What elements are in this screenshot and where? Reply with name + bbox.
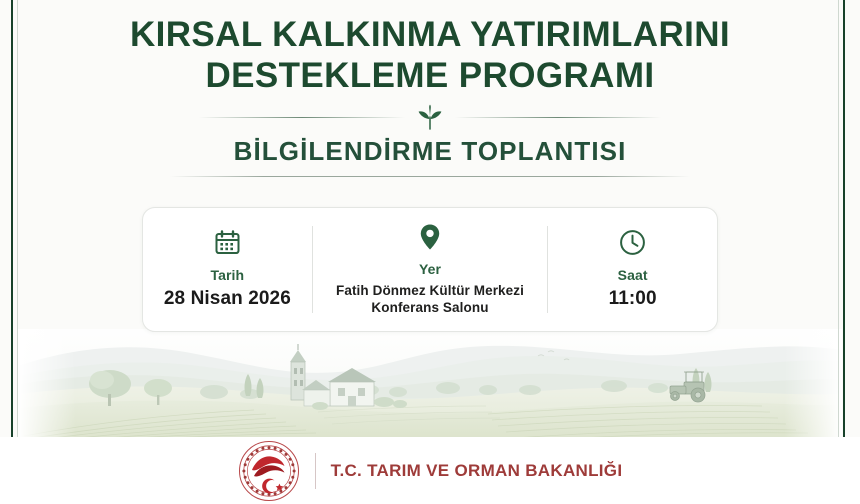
date-value: 28 Nisan 2026 [164, 288, 291, 310]
date-label: Tarih [211, 267, 245, 283]
venue-value: Fatih Dönmez Kültür Merkezi Konferans Sa… [336, 282, 524, 316]
divider-rule-right [455, 117, 661, 118]
detail-column-venue: Yer Fatih Dönmez Kültür Merkezi Konferan… [313, 208, 548, 331]
time-label: Saat [618, 267, 648, 283]
clock-icon [619, 228, 646, 258]
ministry-name: T.C. TARIM VE ORMAN BAKANLIĞI [331, 461, 623, 481]
event-details-card: Tarih 28 Nisan 2026 Yer Fatih Dönmez Kül… [142, 207, 718, 332]
poster-canvas: KIRSAL KALKINMA YATIRIMLARINI DESTEKLEME… [0, 0, 860, 504]
calendar-icon [214, 228, 241, 258]
map-pin-icon [419, 222, 441, 252]
sprout-icon [415, 104, 445, 130]
page-subtitle: BİLGİLENDİRME TOPLANTISI [0, 136, 860, 167]
page-title: KIRSAL KALKINMA YATIRIMLARINI DESTEKLEME… [0, 14, 860, 96]
detail-column-time: Saat 11:00 [548, 208, 717, 331]
title-line-1: KIRSAL KALKINMA YATIRIMLARINI [0, 14, 860, 55]
venue-value-line-1: Fatih Dönmez Kültür Merkezi [336, 282, 524, 299]
sprout-divider [0, 104, 860, 130]
time-value: 11:00 [609, 288, 657, 310]
turkish-ministry-emblem-icon [238, 440, 300, 502]
divider-rule-left [199, 117, 405, 118]
footer-divider [315, 453, 316, 489]
venue-label: Yer [419, 261, 441, 277]
venue-value-line-2: Konferans Salonu [336, 299, 524, 316]
subtitle-underline-rule [170, 176, 690, 177]
footer-bar: T.C. TARIM VE ORMAN BAKANLIĞI [0, 437, 860, 504]
title-line-2: DESTEKLEME PROGRAMI [0, 55, 860, 96]
detail-column-date: Tarih 28 Nisan 2026 [143, 208, 312, 331]
rural-landscape-illustration [18, 320, 842, 438]
